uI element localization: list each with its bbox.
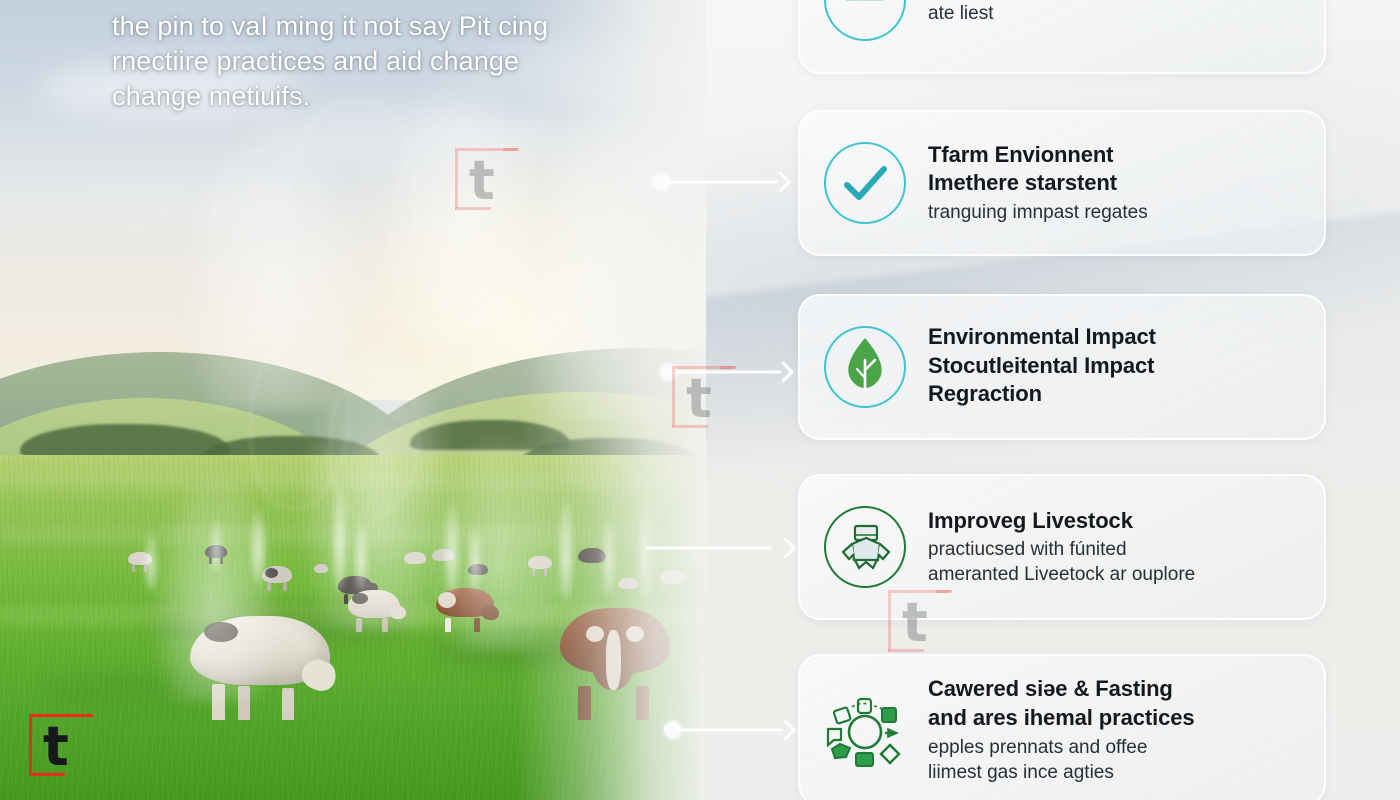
watermark-glyph: t [43,720,69,774]
card-subtitle: practiucsed with fúnited ameranted Livee… [928,537,1302,587]
cow [578,548,606,570]
watermark-glyph: t [469,154,495,208]
watermark-glyph: t [686,372,712,426]
content-panel: enveagment inaction ant segrial ate lies… [706,0,1400,800]
card-title: Environmental Impact Stocutleitental Imp… [928,323,1302,409]
card-text: Improveg Livestock practiucsed with fúni… [928,507,1302,588]
card-subtitle: epples prennats and offee liimest gas in… [928,735,1302,785]
card-title: Cawered siəe & Fasting and ares ihemal p… [928,675,1302,732]
watermark-marker-panel: t [888,590,952,652]
card-title: Tfarm Envionnent Imethere starstent [928,141,1302,198]
feature-card[interactable]: Improveg Livestock practiucsed with fúni… [798,474,1326,620]
infographic-canvas: the pin to vaI ming it not say Pit cing … [0,0,1400,800]
feature-card[interactable]: Cawered siəe & Fasting and ares ihemal p… [798,654,1326,800]
feature-card[interactable]: Environmental Impact Stocutleitental Imp… [798,294,1326,440]
heading-text: rnectiire practices and aid change chang… [112,46,519,111]
card-text: Cawered siəe & Fasting and ares ihemal p… [928,675,1302,784]
cow [618,578,638,595]
circular-economy-icon [822,687,908,773]
watermark-marker-bottom-left: t [29,714,93,776]
heading-cut-line: the pin to vaI ming it not say Pit cing [112,11,548,41]
page-heading: the pin to vaI ming it not say Pit cing … [112,0,632,114]
card-text: Tfarm Envionnent Imethere starstent tran… [928,141,1302,225]
check-circle-icon [822,140,908,226]
watermark-marker-midfield: t [672,366,736,428]
card-title: Improveg Livestock [928,507,1302,536]
watermark-glyph: t [902,596,928,650]
card-text: enveagment inaction ant segrial ate lies… [928,0,1302,26]
cow [660,570,686,591]
card-text: Environmental Impact Stocutleitental Imp… [928,323,1302,411]
pasture-photo-panel: the pin to vaI ming it not say Pit cing … [0,0,706,800]
leaf-icon [822,324,908,410]
livestock-icon [822,504,908,590]
methane-plume [150,470,280,700]
watermark-marker-sky: t [455,148,519,210]
cow [560,608,670,720]
solar-panel-icon [822,0,908,43]
feature-card[interactable]: enveagment inaction ant segrial ate lies… [798,0,1326,74]
card-subtitle: enveagment inaction ant segrial ate lies… [928,0,1302,26]
feature-card[interactable]: Tfarm Envionnent Imethere starstent tran… [798,110,1326,256]
card-subtitle: tranguing imnpast regates [928,200,1302,225]
